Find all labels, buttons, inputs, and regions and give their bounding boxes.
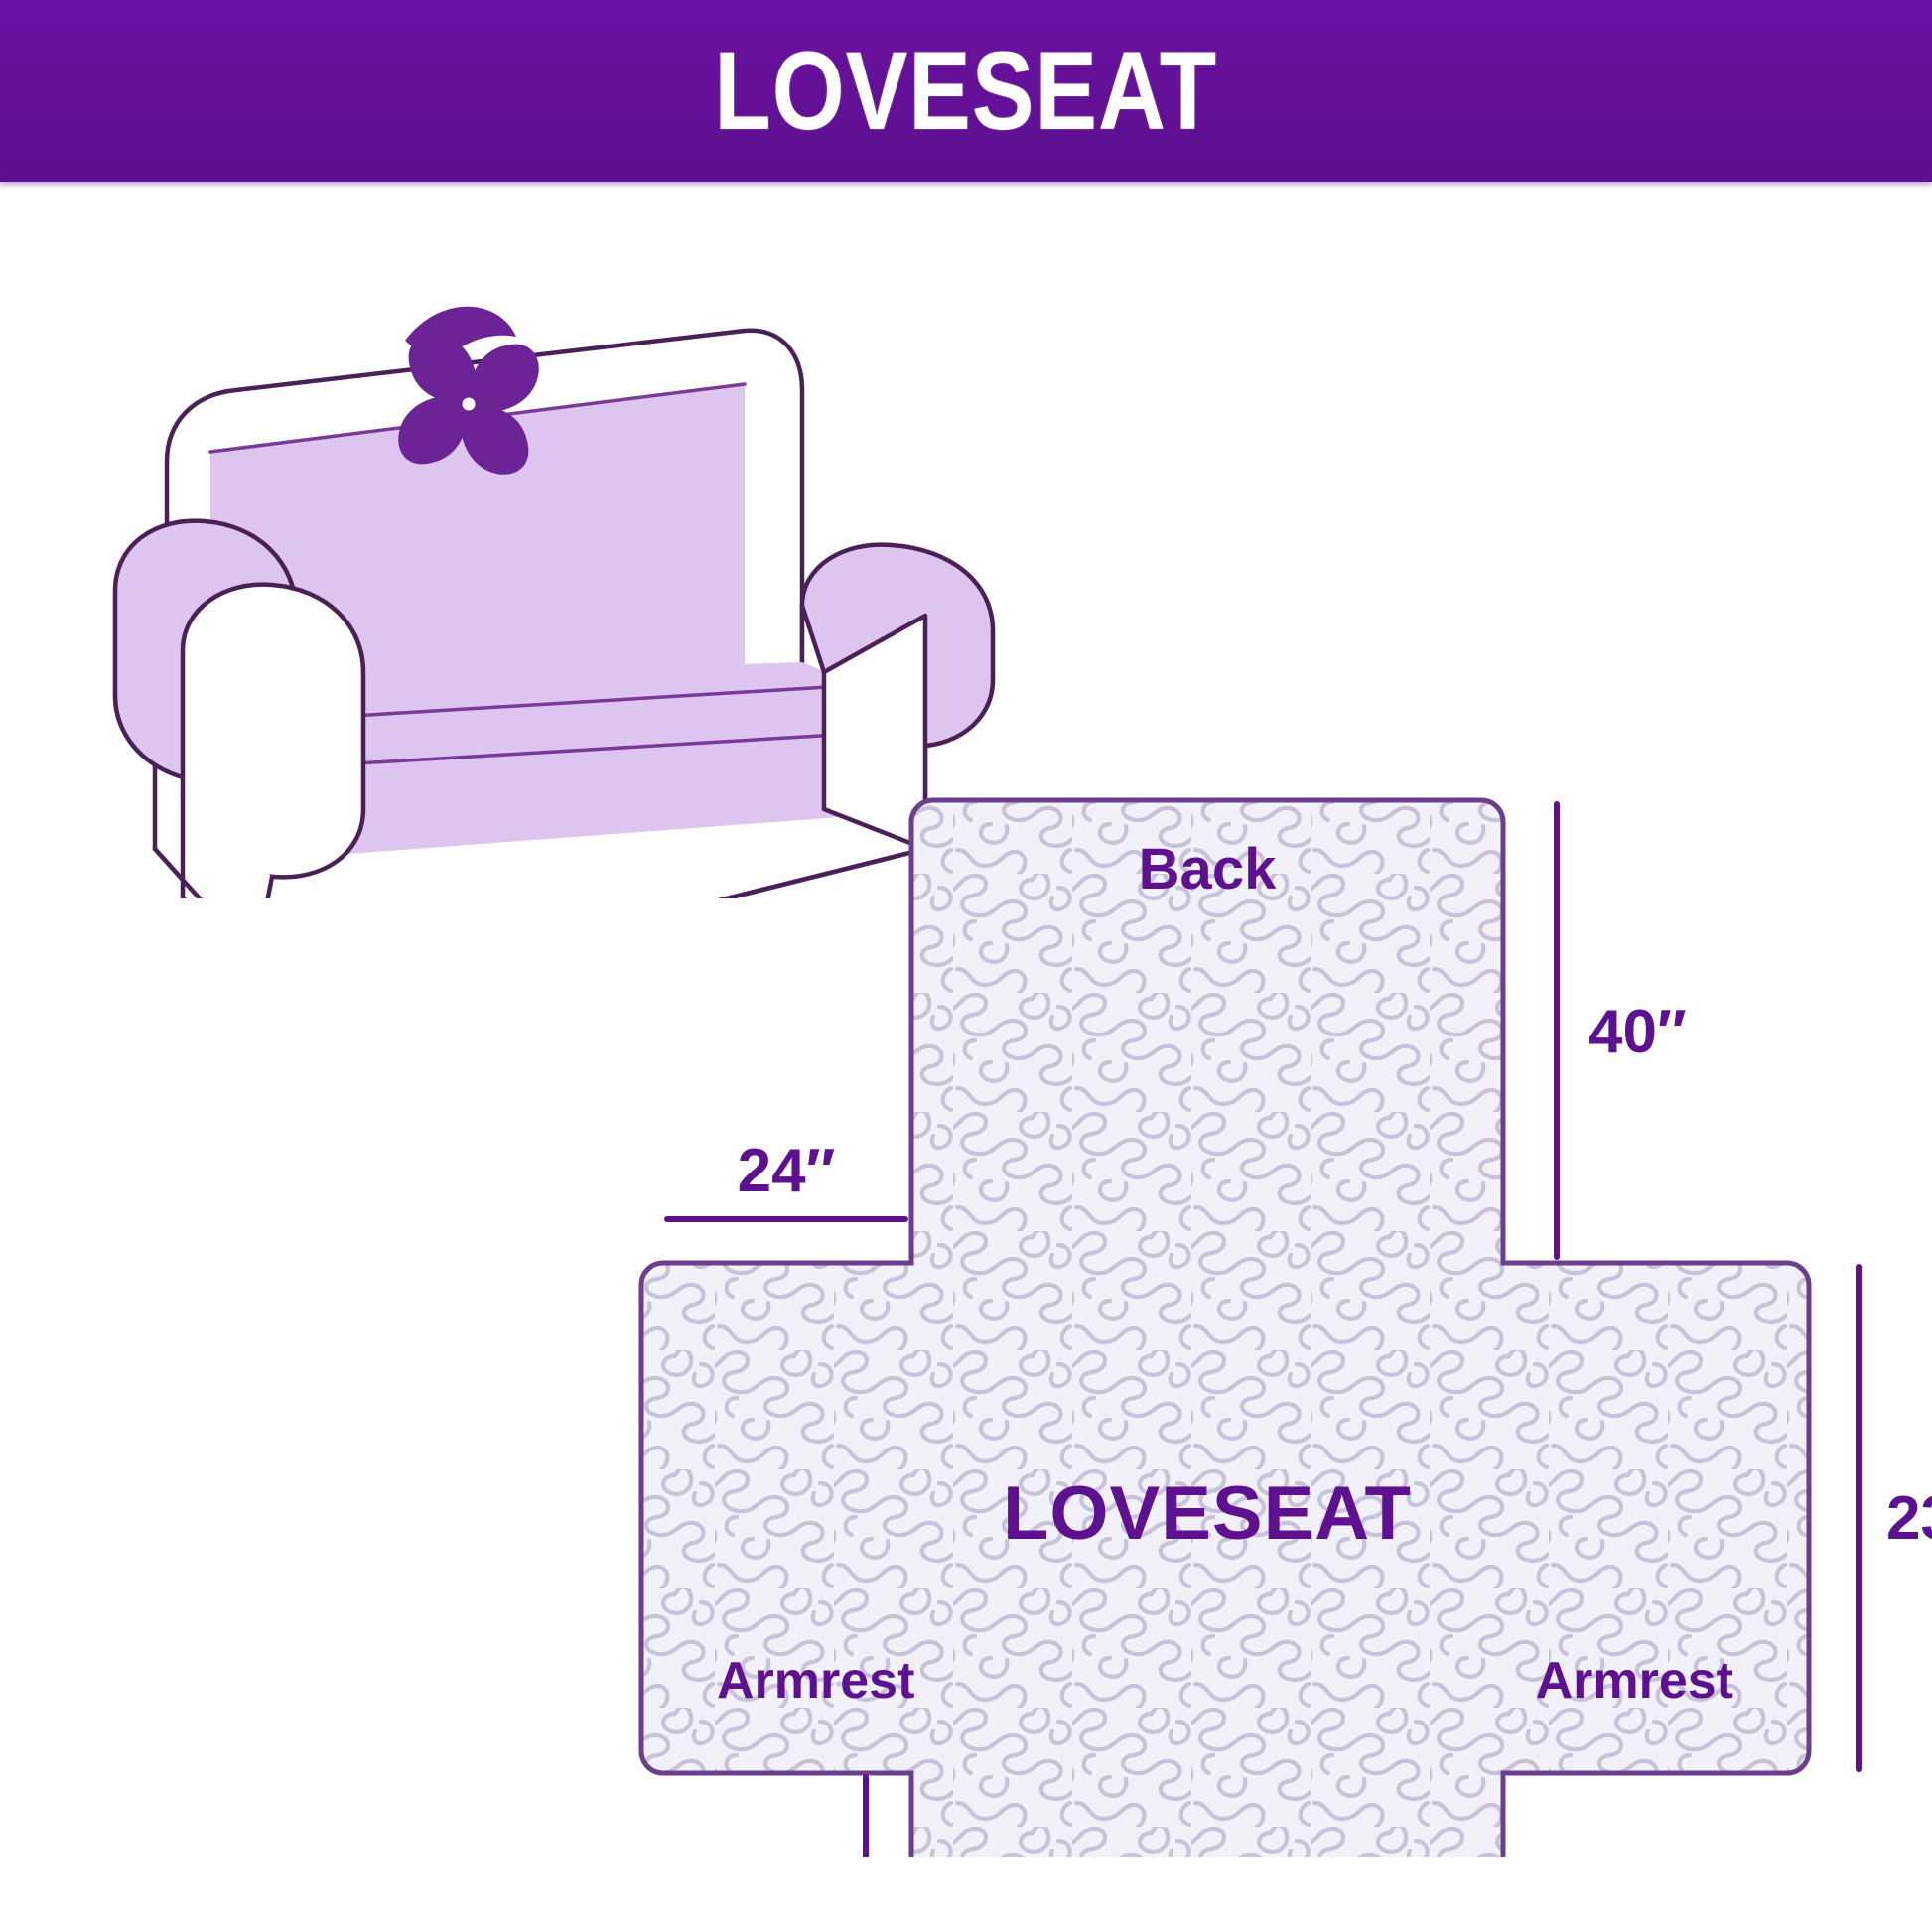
page-title: LOVESEAT bbox=[715, 36, 1218, 147]
dimension-label-armrest-depth: 23″ bbox=[1886, 1484, 1932, 1553]
dimension-label-back-width: 24″ bbox=[738, 1137, 836, 1205]
label-armrest-left: Armrest bbox=[717, 1652, 914, 1710]
cover-layout-diagram: .panel{fill:url(#quilt);stroke:#6b3f8e;s… bbox=[596, 755, 1932, 1857]
label-armrest-right: Armrest bbox=[1536, 1652, 1733, 1710]
header-banner: LOVESEAT bbox=[0, 0, 1932, 182]
infographic-page: LOVESEAT .ol{fill:none;stroke:#4a2157;st… bbox=[0, 0, 1932, 1932]
label-loveseat-center: LOVESEAT bbox=[1003, 1471, 1412, 1556]
label-back: Back bbox=[1139, 837, 1277, 901]
dimension-label-back-height: 40″ bbox=[1588, 998, 1687, 1066]
